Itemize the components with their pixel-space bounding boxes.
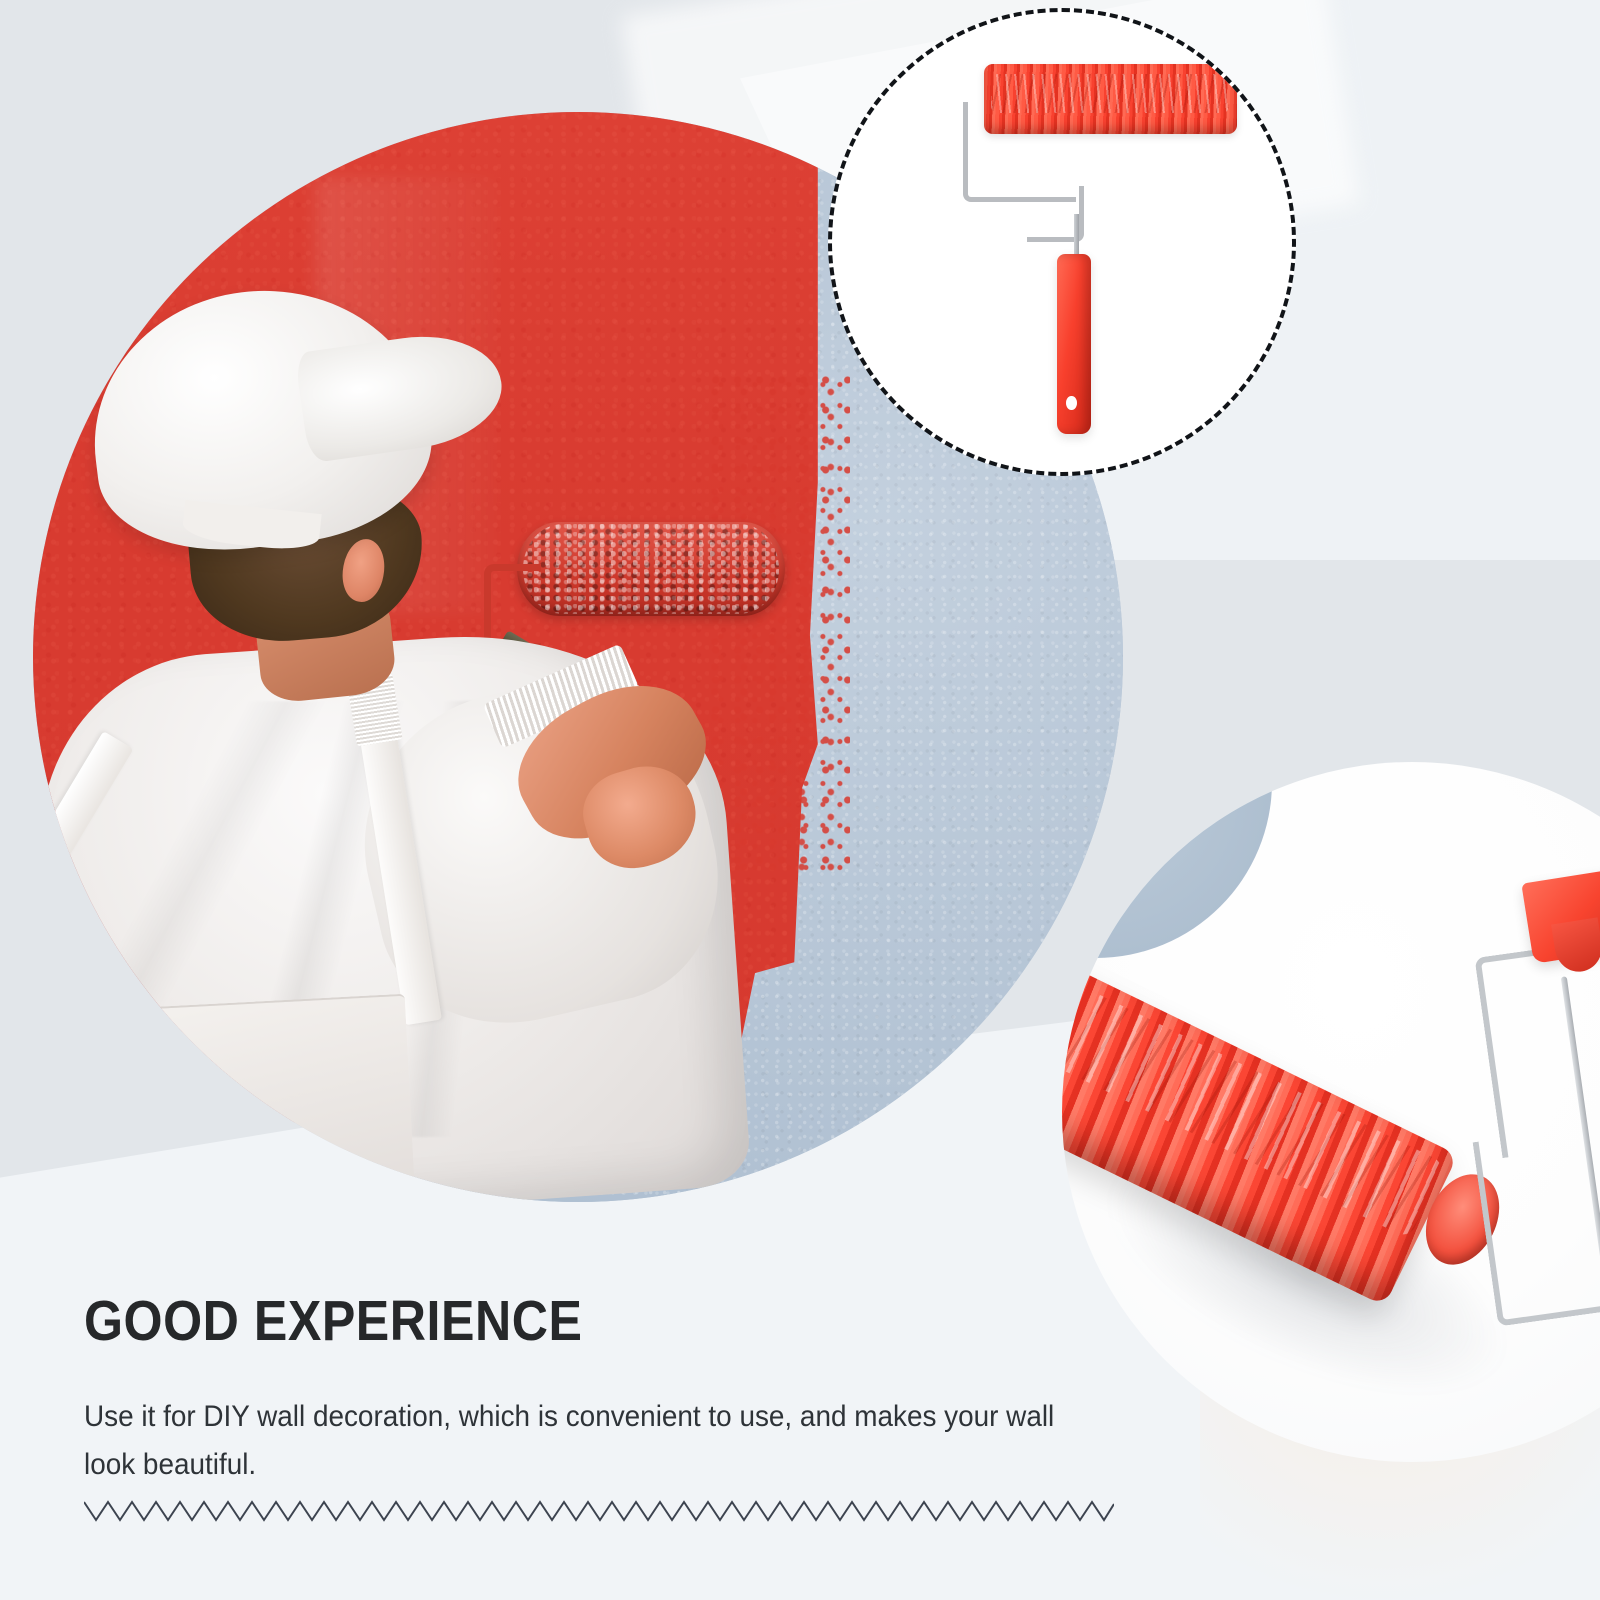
description-text: Use it for DIY wall decoration, which is… — [84, 1393, 1107, 1489]
zigzag-divider — [84, 1498, 1114, 1524]
headline: GOOD EXPERIENCE — [84, 1292, 1052, 1351]
overall-bib-pocket — [122, 994, 415, 1202]
inset-stage — [832, 12, 1292, 472]
product-marketing-poster: GOOD EXPERIENCE Use it for DIY wall deco… — [0, 0, 1600, 1600]
product-red-bracket — [1521, 868, 1600, 965]
copy-block: GOOD EXPERIENCE Use it for DIY wall deco… — [84, 1292, 1184, 1489]
product-backdrop-corner — [1062, 762, 1272, 958]
inset-photo-dashed-circle — [828, 8, 1296, 476]
